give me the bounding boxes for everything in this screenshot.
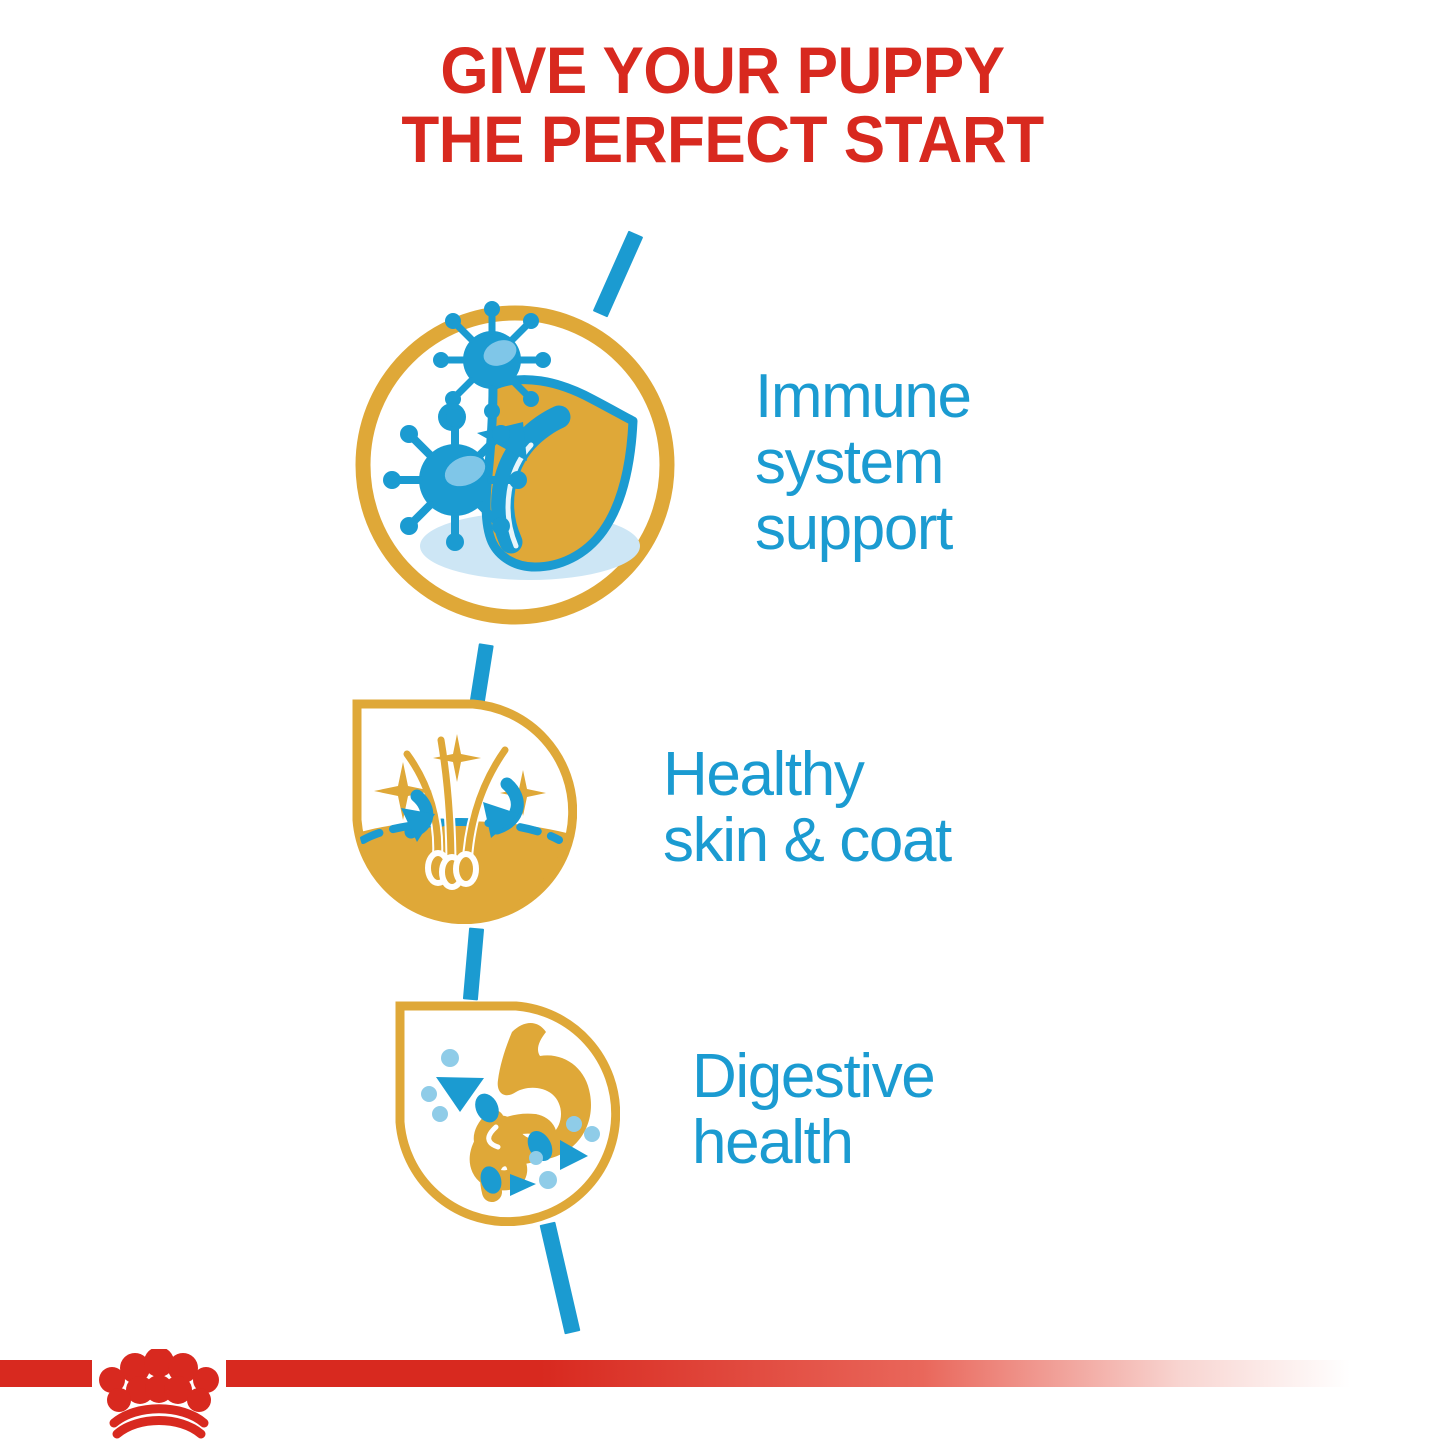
benefit-label-skin: Healthy skin & coat (663, 742, 951, 873)
connector-dash-bottom (540, 1222, 581, 1335)
connector-dash-skin-to-digestive (463, 927, 484, 1000)
page-title-line-2: THE PERFECT START (43, 105, 1401, 174)
benefit-row-immune: Immune system support (345, 295, 971, 635)
immune-shield-icon (345, 295, 685, 635)
footer-bar-right (226, 1360, 1350, 1387)
digestive-stomach-icon (388, 994, 620, 1226)
skin-coat-follicle-icon (345, 692, 577, 924)
benefit-row-digestive: Digestive health (388, 994, 934, 1226)
royal-canin-crown-logo (92, 1349, 226, 1445)
benefit-label-digestive: Digestive health (692, 1044, 934, 1175)
poster-canvas: GIVE YOUR PUPPY THE PERFECT START (0, 0, 1445, 1445)
page-title-line-1: GIVE YOUR PUPPY (43, 36, 1401, 105)
footer (0, 1349, 1445, 1445)
benefit-row-skin: Healthy skin & coat (345, 692, 951, 924)
page-title: GIVE YOUR PUPPY THE PERFECT START (43, 36, 1401, 173)
footer-bar-left (0, 1360, 92, 1387)
benefit-label-immune: Immune system support (755, 364, 971, 561)
